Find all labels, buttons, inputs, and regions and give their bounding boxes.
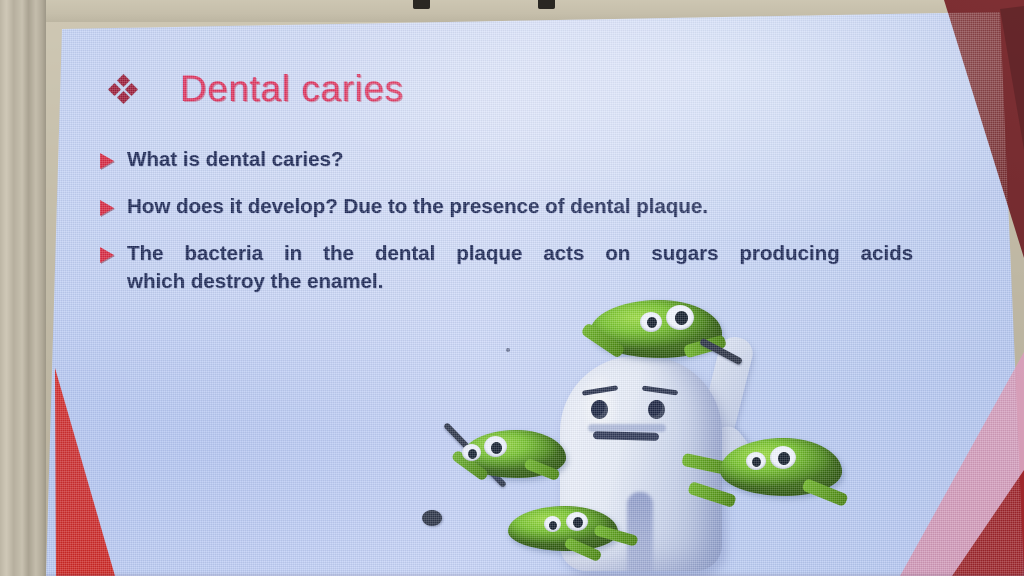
germ-pupil [752, 457, 761, 467]
bullet-text: What is dental caries? [127, 146, 343, 174]
germ-pupil [573, 517, 583, 528]
tooth-eye-left [591, 400, 608, 419]
germ-pupil [549, 521, 557, 530]
germ-bottom [508, 504, 653, 576]
slide-content: Dental caries What is dental caries? How… [0, 0, 1024, 576]
list-item: How does it develop? Due to the presence… [100, 193, 930, 221]
germ-pupil [778, 452, 790, 465]
bullet-text-line-2: which destroy the enamel. [127, 268, 913, 296]
page-title: Dental caries [180, 68, 404, 110]
diamond-cluster-icon [110, 76, 136, 102]
germ-limb [687, 481, 737, 508]
triangle-bullet-icon [100, 200, 114, 216]
bullet-text-line-1: The bacteria in the dental plaque acts o… [127, 240, 913, 268]
germ-pickaxe-head [422, 510, 442, 526]
germ-pupil [647, 317, 657, 328]
bullet-text: How does it develop? Due to the presence… [127, 193, 708, 221]
list-item: What is dental caries? [100, 146, 930, 174]
germ-pupil [675, 311, 688, 325]
triangle-bullet-icon [100, 247, 114, 263]
dust-speck [506, 348, 510, 352]
cartoon-tooth-artwork [420, 296, 850, 576]
list-item: The bacteria in the dental plaque acts o… [100, 240, 930, 296]
bullet-text: The bacteria in the dental plaque acts o… [127, 240, 913, 296]
germ-top [580, 296, 740, 376]
tooth-mouth [593, 431, 659, 441]
germ-right [682, 432, 852, 528]
germ-pupil [468, 449, 477, 459]
bullet-list: What is dental caries? How does it devel… [100, 146, 930, 315]
germ-pupil [491, 442, 502, 454]
projector-photo-scene: Dental caries What is dental caries? How… [0, 0, 1024, 576]
triangle-bullet-icon [100, 153, 114, 169]
slide-title-row: Dental caries [110, 68, 404, 110]
tooth-eye-right [648, 400, 665, 419]
